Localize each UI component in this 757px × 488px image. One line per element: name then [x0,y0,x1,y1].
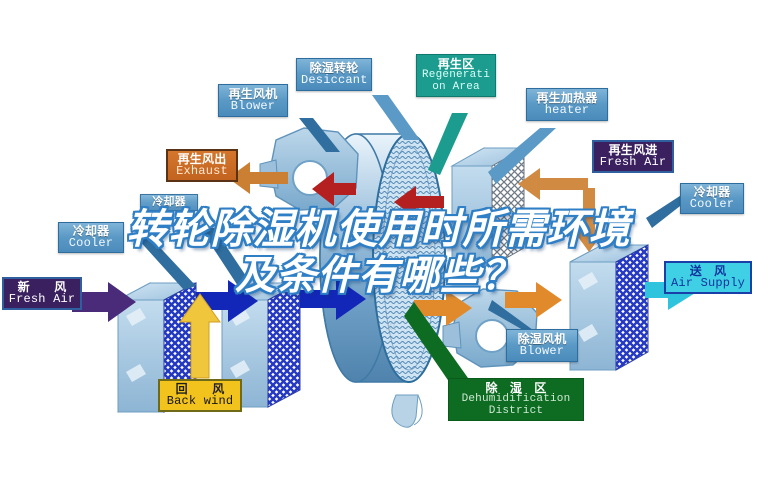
label-en: Cooler [63,237,119,249]
label-regeneration-blower[interactable]: 再生风机 Blower [218,84,288,117]
label-en: Desiccant [301,74,367,86]
label-cooler-left-b[interactable]: 冷却器 [140,194,198,211]
label-exhaust-air[interactable]: 再生风出 Exhaust [166,149,238,182]
label-cooler-right[interactable]: 冷却器 Cooler [680,183,744,214]
label-en: Back wind [164,395,236,407]
label-en: Blower [511,345,573,357]
label-en-cont: on Area [420,82,492,93]
label-air-supply[interactable]: 送 风 Air Supply [664,261,752,294]
label-en: Blower [223,100,283,112]
label-en: Fresh Air [8,293,76,305]
label-en: Cooler [685,198,739,210]
label-en: Fresh Air [598,156,668,168]
supply-cooler-unit [570,245,648,370]
label-regeneration-area[interactable]: 再生区 Regenerati on Area [416,54,496,97]
label-back-wind[interactable]: 回 风 Back wind [158,379,242,412]
label-dehumidify-blower[interactable]: 除湿风机 Blower [506,329,578,362]
label-regeneration-heater[interactable]: 再生加热器 heater [526,88,608,121]
label-cn: 冷却器 [145,197,193,208]
label-en: Air Supply [670,277,746,289]
label-dehumidify-area[interactable]: 除 湿 区 Dehumidification District [448,378,584,421]
svg-text:xt: xt [386,318,397,333]
label-cooler-left-a[interactable]: 冷却器 Cooler [58,222,124,253]
label-fresh-air-process[interactable]: 新 风 Fresh Air [2,277,82,310]
label-desiccant-rotor[interactable]: 除湿转轮 Desiccant [296,58,372,91]
diagram-canvas: xt 除湿转轮 Desiccant 再生风机 Blower 再生区 Regene… [0,0,757,488]
arrow-regen-fresh-in [518,168,605,252]
label-fresh-air-regen[interactable]: 再生风进 Fresh Air [592,140,674,173]
label-en: Exhaust [172,165,232,177]
regeneration-blower-unit [260,128,358,210]
label-en-cont: District [453,406,579,417]
label-en: heater [531,104,603,116]
